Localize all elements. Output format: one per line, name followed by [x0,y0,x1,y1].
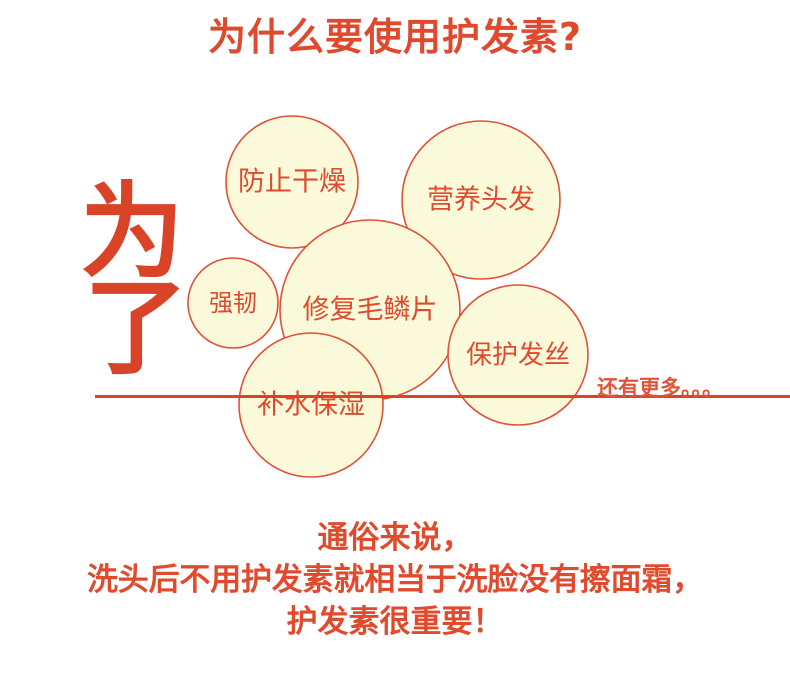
bubble-cluster-svg: 防止干燥营养头发强韧修复毛鳞片保护发丝补水保湿 [0,0,790,500]
footer-message: 通俗来说， 洗头后不用护发素就相当于洗脸没有擦面霜， 护发素很重要！ [0,518,790,644]
footer-line-2: 洗头后不用护发素就相当于洗脸没有擦面霜， [0,560,790,602]
poster-canvas: 为什么要使用护发素? 为 了 防止干燥营养头发强韧修复毛鳞片保护发丝补水保湿 还… [0,0,790,674]
more-benefits-label: 还有更多。。。 [597,372,723,402]
benefit-bubble-label: 营养头发 [427,185,535,216]
footer-line-3: 护发素很重要！ [0,602,790,644]
benefit-bubble-label: 修复毛鳞片 [303,295,438,326]
benefit-bubble-label: 防止干燥 [238,167,346,198]
benefit-bubble-label: 保护发丝 [466,341,570,371]
footer-line-1: 通俗来说， [0,518,790,560]
benefit-bubble-label: 强韧 [209,289,257,317]
benefit-bubble-cluster: 防止干燥营养头发强韧修复毛鳞片保护发丝补水保湿 [0,0,790,500]
